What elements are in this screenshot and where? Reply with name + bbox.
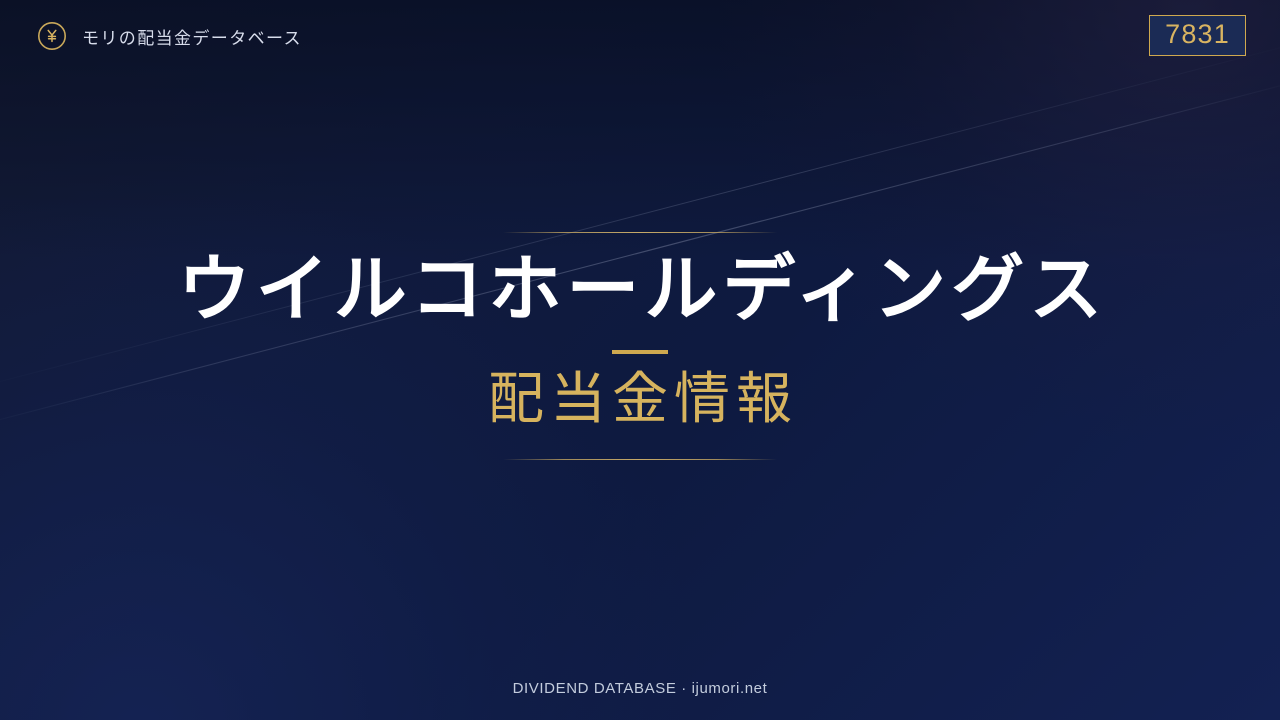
footer-source-label: DIVIDEND DATABASE · ijumori.net [513,680,768,697]
slide-header: モリの配当金データベース 7831 [0,0,1280,88]
brand-name-label: モリの配当金データベース [82,24,302,49]
title-slide: モリの配当金データベース 7831 ウイルコホールディングス 配当金情報 DIV… [0,0,1280,720]
slide-footer: DIVIDEND DATABASE · ijumori.net [0,680,1280,698]
title-block: ウイルコホールディングス 配当金情報 [0,232,1280,460]
brand-lockup: モリの配当金データベース [36,20,302,52]
company-name-title: ウイルコホールディングス [173,251,1107,328]
divider-above-title [503,232,777,233]
page-subtitle: 配当金情報 [482,368,798,431]
divider-below-subtitle [503,459,777,460]
ticker-code-badge: 7831 [1149,15,1246,56]
gold-dash-divider [612,350,668,354]
yen-circle-icon [36,20,68,52]
